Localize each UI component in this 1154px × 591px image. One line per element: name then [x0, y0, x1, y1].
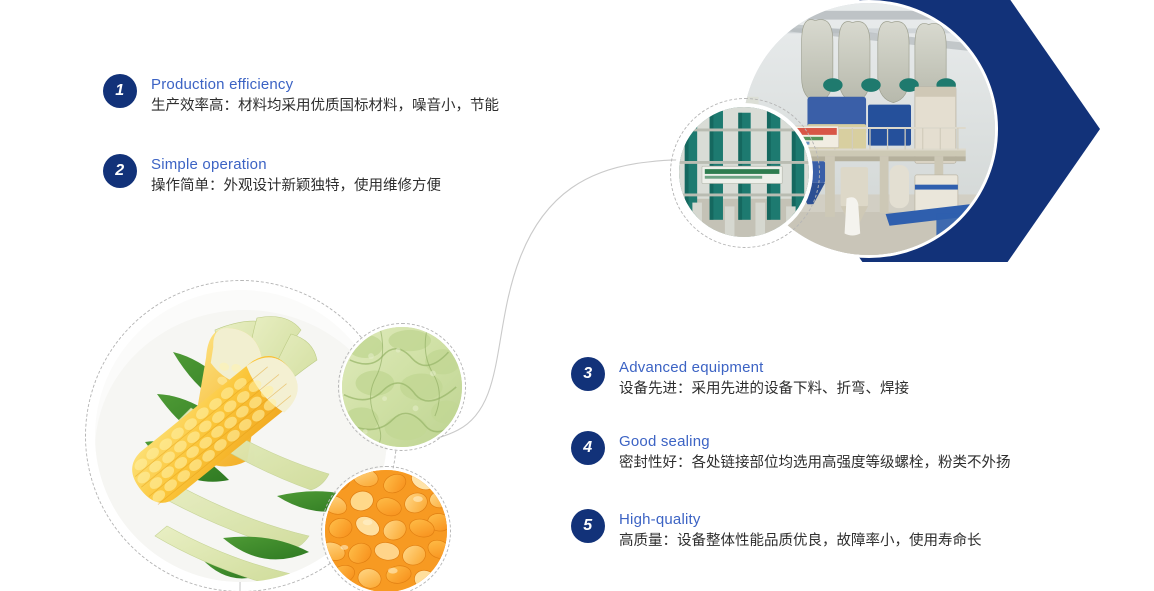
feature-item-2: 2 Simple operation 操作简单：外观设计新颖独特，使用维修方便 [103, 154, 441, 197]
green-maize-processing-line-photo [676, 104, 812, 240]
feature-text-4: Good sealing 密封性好：各处链接部位均选用高强度等级螺栓，粉类不外扬 [619, 431, 1011, 474]
corn-image-cluster [85, 280, 485, 591]
feature-title-4: Good sealing [619, 432, 1011, 451]
feature-item-3: 3 Advanced equipment 设备先进：采用先进的设备下料、折弯、焊… [571, 357, 909, 400]
feature-description-5: 高质量：设备整体性能品质优良，故障率小，使用寿命长 [619, 530, 982, 552]
feature-item-5: 5 High-quality 高质量：设备整体性能品质优良，故障率小，使用寿命长 [571, 509, 982, 552]
feature-description-2: 操作简单：外观设计新颖独特，使用维修方便 [151, 175, 441, 197]
feature-item-1: 1 Production efficiency 生产效率高：材料均采用优质国标材… [103, 74, 499, 117]
feature-description-3: 设备先进：采用先进的设备下料、折弯、焊接 [619, 378, 909, 400]
feature-description-4: 密封性好：各处链接部位均选用高强度等级螺栓，粉类不外扬 [619, 452, 1011, 474]
feature-number-badge-3: 3 [571, 357, 605, 391]
feature-text-3: Advanced equipment 设备先进：采用先进的设备下料、折弯、焊接 [619, 357, 909, 400]
feature-text-2: Simple operation 操作简单：外观设计新颖独特，使用维修方便 [151, 154, 441, 197]
feature-text-5: High-quality 高质量：设备整体性能品质优良，故障率小，使用寿命长 [619, 509, 982, 552]
feature-number-badge-4: 4 [571, 431, 605, 465]
hexagon-image-cluster [660, 0, 1154, 276]
feature-title-5: High-quality [619, 510, 982, 529]
feature-description-1: 生产效率高：材料均采用优质国标材料，噪音小，节能 [151, 95, 499, 117]
feature-title-3: Advanced equipment [619, 358, 909, 377]
feature-number-badge-1: 1 [103, 74, 137, 108]
infographic-canvas: 1 Production efficiency 生产效率高：材料均采用优质国标材… [0, 0, 1154, 591]
feature-number-badge-5: 5 [571, 509, 605, 543]
feature-title-1: Production efficiency [151, 75, 499, 94]
feature-number-badge-2: 2 [103, 154, 137, 188]
feature-title-2: Simple operation [151, 155, 441, 174]
corn-paste-photo [340, 325, 464, 449]
corn-grits-kernels-photo [323, 468, 449, 591]
feature-text-1: Production efficiency 生产效率高：材料均采用优质国标材料，… [151, 74, 499, 117]
feature-item-4: 4 Good sealing 密封性好：各处链接部位均选用高强度等级螺栓，粉类不… [571, 431, 1011, 474]
